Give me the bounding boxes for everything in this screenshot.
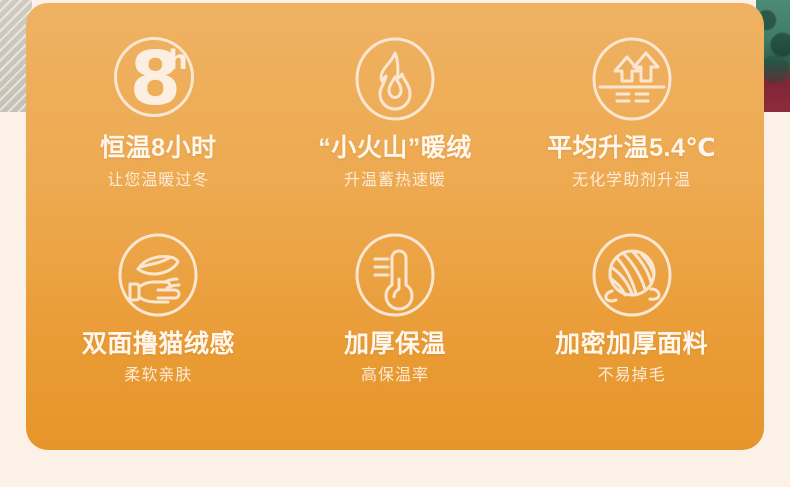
feature-item-dense-fabric: 加密加厚面料 不易掉毛 [513, 225, 750, 421]
feature-subtitle: 升温蓄热速暖 [344, 172, 446, 190]
flame-icon [346, 29, 444, 129]
feature-subtitle: 让您温暖过冬 [107, 172, 209, 190]
hand-leaf-icon [109, 225, 207, 325]
feature-subtitle: 高保温率 [361, 367, 429, 385]
rising-arrows-icon [583, 29, 681, 129]
feature-item-volcano-fleece: “小火山”暖绒 升温蓄热速暖 [277, 29, 514, 225]
feature-subtitle: 不易掉毛 [598, 367, 666, 385]
clock-8h-icon: 8 h [109, 29, 207, 129]
feature-card: 8 h 恒温8小时 让您温暖过冬 “小火山”暖绒 升温蓄热速暖 [26, 3, 764, 450]
yarn-ball-icon [583, 225, 681, 325]
feature-title: 双面撸猫绒感 [82, 331, 235, 359]
feature-item-avg-temp-rise: 平均升温5.4℃ 无化学助剂升温 [513, 29, 750, 225]
feature-title: 加密加厚面料 [555, 331, 708, 359]
feature-title: 恒温8小时 [100, 135, 216, 163]
feature-subtitle: 无化学助剂升温 [572, 172, 691, 190]
feature-grid: 8 h 恒温8小时 让您温暖过冬 “小火山”暖绒 升温蓄热速暖 [26, 3, 764, 450]
icon-unit-h: h [168, 47, 187, 74]
feature-item-thick-insulation: 加厚保温 高保温率 [277, 225, 514, 421]
feature-title: 平均升温5.4℃ [547, 135, 716, 163]
feature-item-constant-temp: 8 h 恒温8小时 让您温暖过冬 [40, 29, 277, 225]
feature-subtitle: 柔软亲肤 [124, 367, 192, 385]
thermometer-icon [346, 225, 444, 325]
feature-title: “小火山”暖绒 [318, 135, 472, 163]
feature-title: 加厚保温 [344, 331, 446, 359]
feature-item-soft-touch: 双面撸猫绒感 柔软亲肤 [40, 225, 277, 421]
